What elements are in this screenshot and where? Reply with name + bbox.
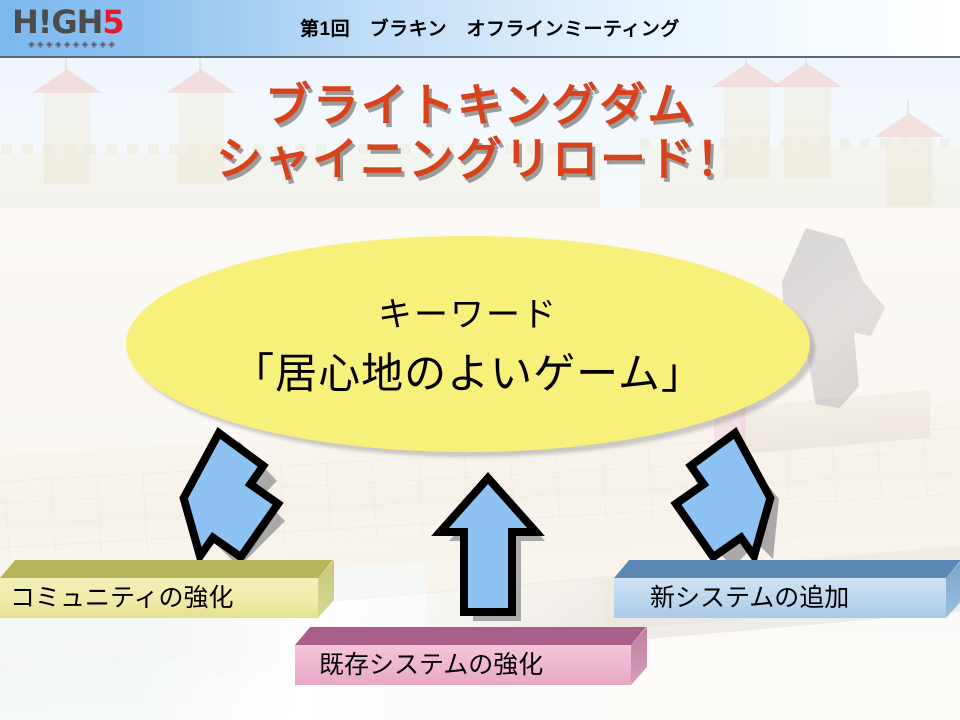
- label-box-text: 新システムの追加: [650, 578, 849, 618]
- logo-letter-h: H: [12, 3, 38, 41]
- label-box-text: コミュニティの強化: [10, 578, 234, 618]
- header-title: 第1回 ブラキン オフラインミーティング: [300, 14, 680, 41]
- page-title-line-2: シャイニングリロード！: [0, 132, 960, 186]
- logo-letters-gh: GH: [51, 3, 102, 41]
- slide-header-bar: H!GH5 ◈◈◈◈◈◈◈◈◈◈ 第1回 ブラキン オフラインミーティング: [0, 0, 960, 58]
- keyword-bubble-label: キーワード: [378, 287, 558, 336]
- logo-exclamation-icon: !: [38, 3, 52, 41]
- logo-diamond-ornament-icon: ◈◈◈◈◈◈◈◈◈◈: [28, 39, 172, 49]
- label-box-text: 既存システムの強化: [319, 645, 543, 685]
- label-box-top-face: [295, 627, 646, 645]
- label-box-front-face: 新システムの追加: [614, 578, 946, 618]
- presentation-slide: H!GH5 ◈◈◈◈◈◈◈◈◈◈ 第1回 ブラキン オフラインミーティング ブラ…: [0, 0, 960, 720]
- label-box-front-face: コミュニティの強化: [0, 578, 318, 618]
- label-box-top-face: [0, 560, 333, 578]
- logo-digit-five: 5: [102, 3, 123, 41]
- keyword-bubble-phrase: 「居心地のよいゲーム」: [232, 340, 704, 401]
- label-box-top-face: [614, 560, 960, 578]
- page-title-line-1: ブライトキングダム: [0, 78, 960, 132]
- page-title: ブライトキングダム シャイニングリロード！: [0, 78, 960, 186]
- label-box-front-face: 既存システムの強化: [295, 645, 631, 685]
- logo-wordmark: H!GH5: [12, 6, 172, 38]
- high5-logo: H!GH5 ◈◈◈◈◈◈◈◈◈◈: [12, 6, 172, 52]
